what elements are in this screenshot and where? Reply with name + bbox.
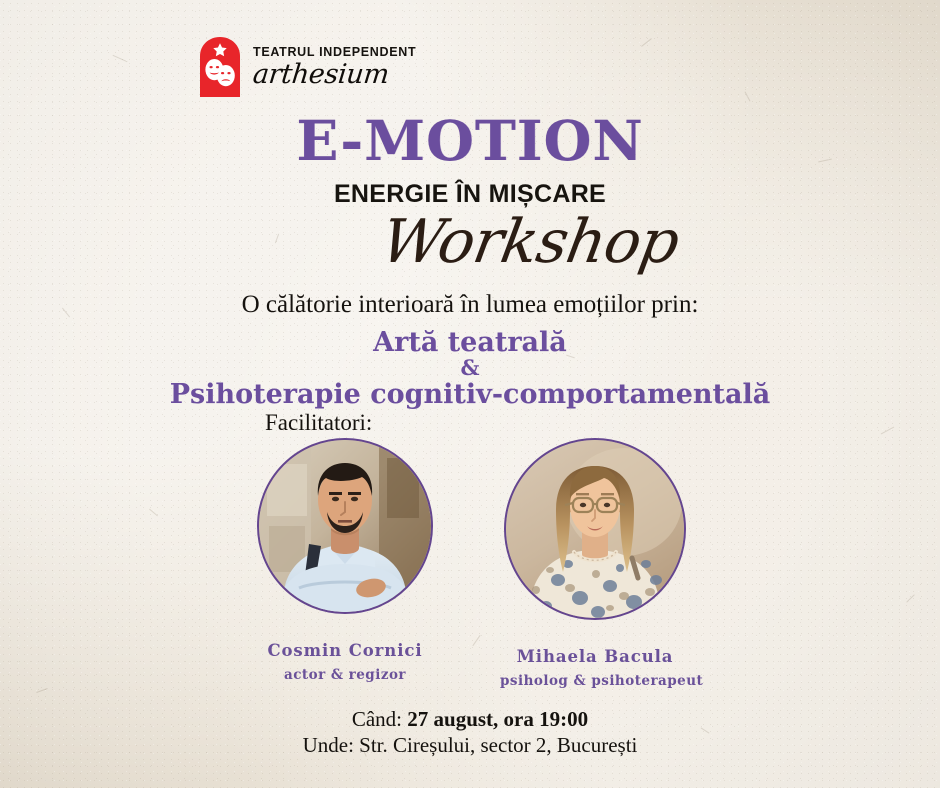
theatre-masks-star-shield-icon [196, 36, 244, 98]
facilitator-card-cosmin-cornici: Cosmin Cornici actor & regizor [250, 438, 440, 689]
portrait-photo-man-light-blue-shirt-arms-crossed-icon [259, 440, 431, 612]
event-when: Când: 27 august, ora 19:00 [0, 706, 940, 732]
avatar [504, 438, 686, 620]
facilitator-role: actor & regizor [250, 667, 440, 683]
page-title: E-MOTION [0, 113, 940, 168]
facilitators-label: Facilitatori: [265, 410, 372, 436]
offer-ampersand: & [0, 357, 940, 380]
page-subtitle: ENERGIE ÎN MIȘCARE [0, 180, 940, 209]
logo-wordmark: arthesium [252, 61, 418, 88]
offer-item-2: Psihoterapie cognitiv-comportamentală [0, 380, 940, 409]
facilitator-name: Mihaela Bacula [500, 647, 690, 666]
when-value: 27 august, ora 19:00 [407, 707, 588, 731]
lead-paragraph: O călătorie interioară în lumea emoțiilo… [0, 291, 940, 319]
event-poster: TEATRUL INDEPENDENT arthesium E-MOTION E… [0, 0, 940, 788]
event-details: Când: 27 august, ora 19:00 Unde: Str. Ci… [0, 706, 940, 759]
portrait-photo-woman-glasses-floral-blouse-icon [506, 440, 684, 618]
facilitator-role: psiholog & psihoterapeut [500, 673, 690, 689]
facilitator-card-mihaela-bacula: Mihaela Bacula psiholog & psihoterapeut [500, 438, 690, 689]
brand-logo: TEATRUL INDEPENDENT arthesium [196, 36, 416, 98]
facilitator-name: Cosmin Cornici [250, 641, 440, 660]
offer-list: Artă teatrală & Psihoterapie cognitiv-co… [0, 328, 940, 409]
logo-tagline: TEATRUL INDEPENDENT [253, 46, 416, 59]
workshop-script-word: Workshop [0, 212, 940, 272]
avatar [257, 438, 433, 614]
event-where: Unde: Str. Cireșului, sector 2, Bucureșt… [0, 732, 940, 758]
when-label: Când: [352, 707, 407, 731]
offer-item-1: Artă teatrală [0, 328, 940, 357]
facilitators-list: Cosmin Cornici actor & regizor [0, 438, 940, 689]
